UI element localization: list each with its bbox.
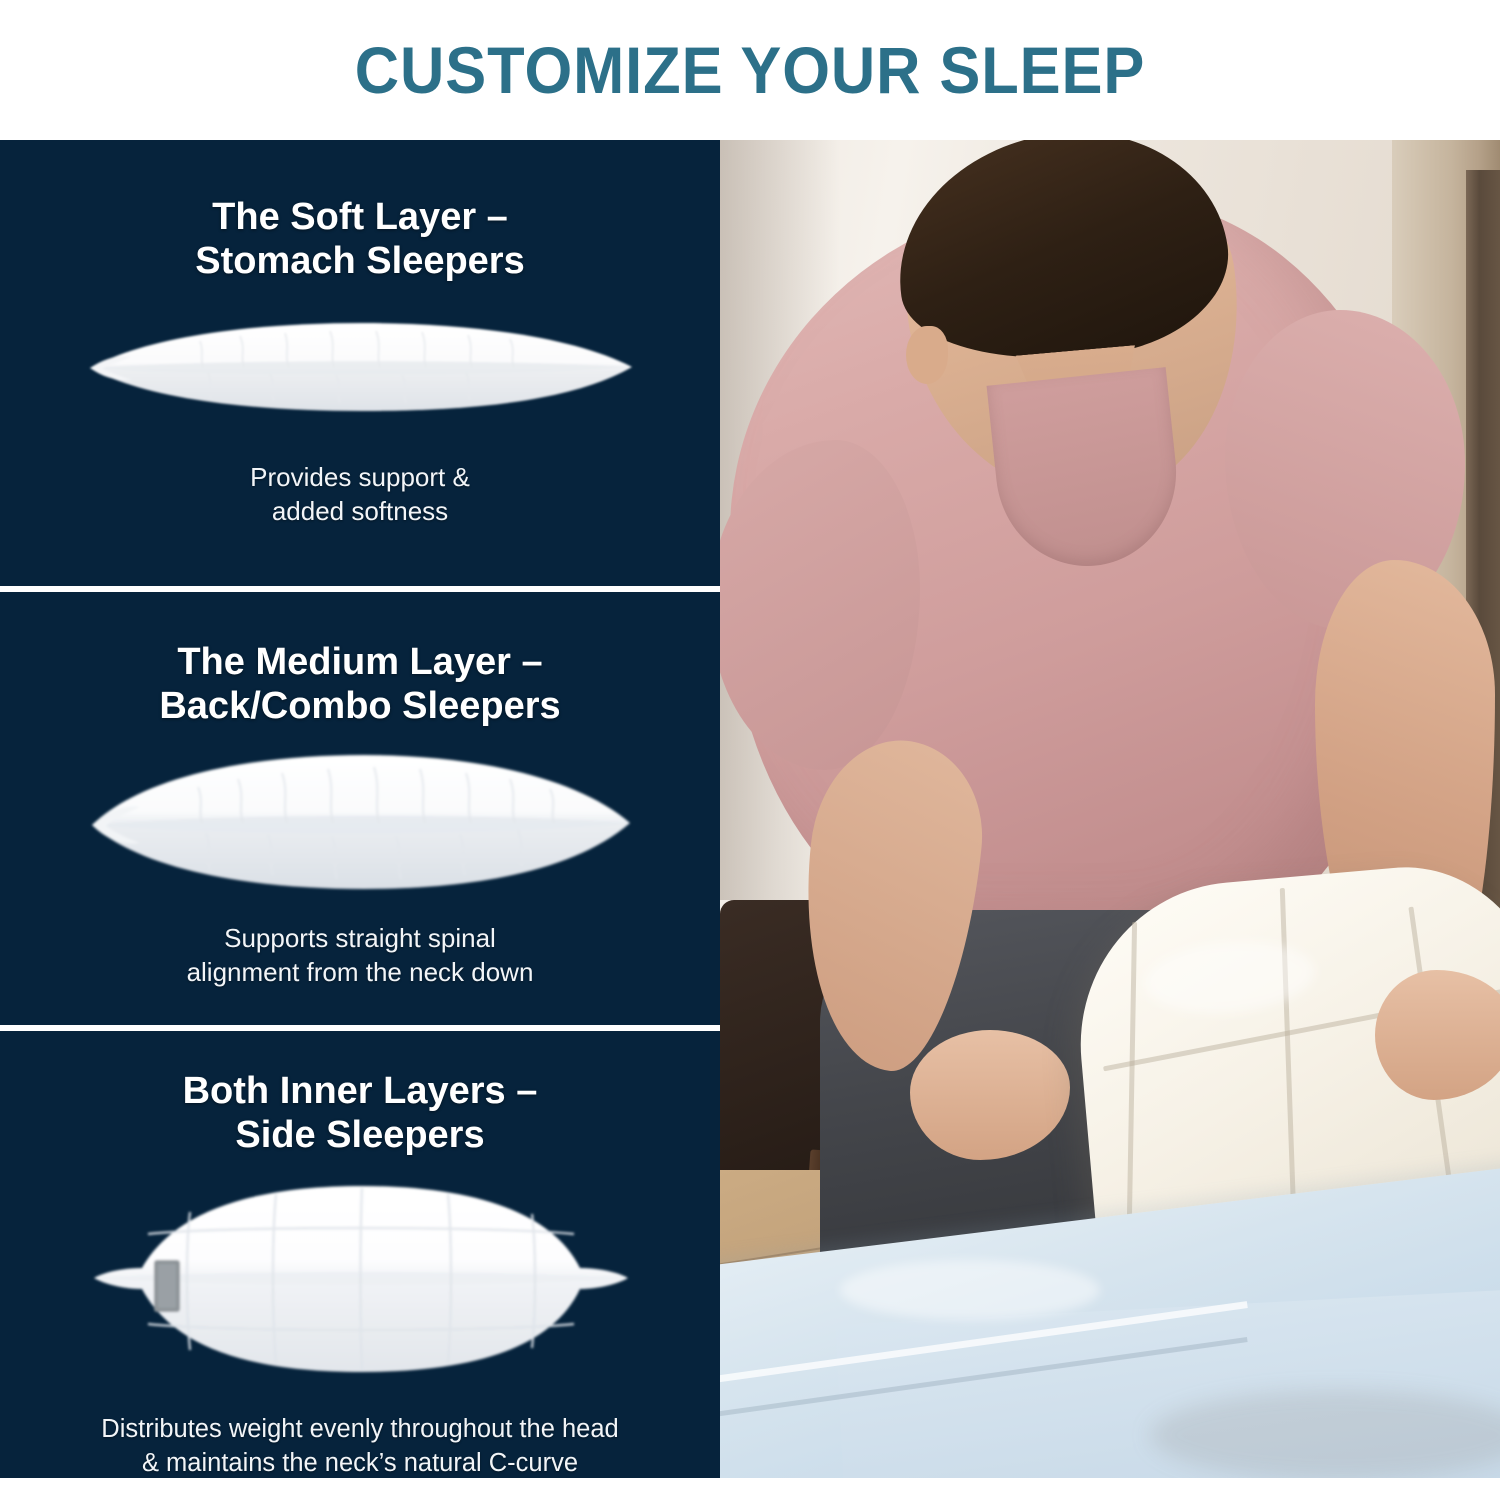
header-bar: CUSTOMIZE YOUR SLEEP xyxy=(0,0,1500,140)
content-row: The Soft Layer – Stomach Sleepers xyxy=(0,140,1500,1478)
both-layers-pillow xyxy=(80,1172,640,1387)
soft-layer-pillow-icon xyxy=(80,311,640,421)
person-left-shoulder xyxy=(720,440,920,770)
panel-both-layers-heading: Both Inner Layers – Side Sleepers xyxy=(183,1069,538,1158)
panel-medium-layer-caption: Supports straight spinal alignment from … xyxy=(187,921,534,990)
panel-medium-layer: The Medium Layer – Back/Combo Sleepers xyxy=(0,592,720,1025)
panel-soft-layer-heading: The Soft Layer – Stomach Sleepers xyxy=(195,195,524,284)
soft-layer-pillow xyxy=(80,306,640,426)
person-ear xyxy=(906,326,948,384)
page-title: CUSTOMIZE YOUR SLEEP xyxy=(355,37,1146,103)
layers-column: The Soft Layer – Stomach Sleepers xyxy=(0,140,720,1478)
panel-soft-layer-caption: Provides support & added softness xyxy=(250,460,470,529)
medium-layer-pillow xyxy=(80,747,640,897)
person-right-hand xyxy=(1375,970,1500,1100)
infographic-page: CUSTOMIZE YOUR SLEEP The Soft Layer – St… xyxy=(0,0,1500,1500)
panel-soft-layer: The Soft Layer – Stomach Sleepers xyxy=(0,140,720,586)
panel-both-layers: Both Inner Layers – Side Sleepers xyxy=(0,1031,720,1478)
bottom-white-strip xyxy=(0,1478,1500,1500)
both-layers-pillow-icon xyxy=(80,1172,640,1387)
medium-layer-pillow-icon xyxy=(80,747,640,897)
panel-both-layers-caption: Distributes weight evenly throughout the… xyxy=(101,1413,618,1478)
lifestyle-photo xyxy=(720,140,1500,1478)
lifestyle-photo-scene xyxy=(720,140,1500,1478)
panel-medium-layer-heading: The Medium Layer – Back/Combo Sleepers xyxy=(159,640,560,729)
